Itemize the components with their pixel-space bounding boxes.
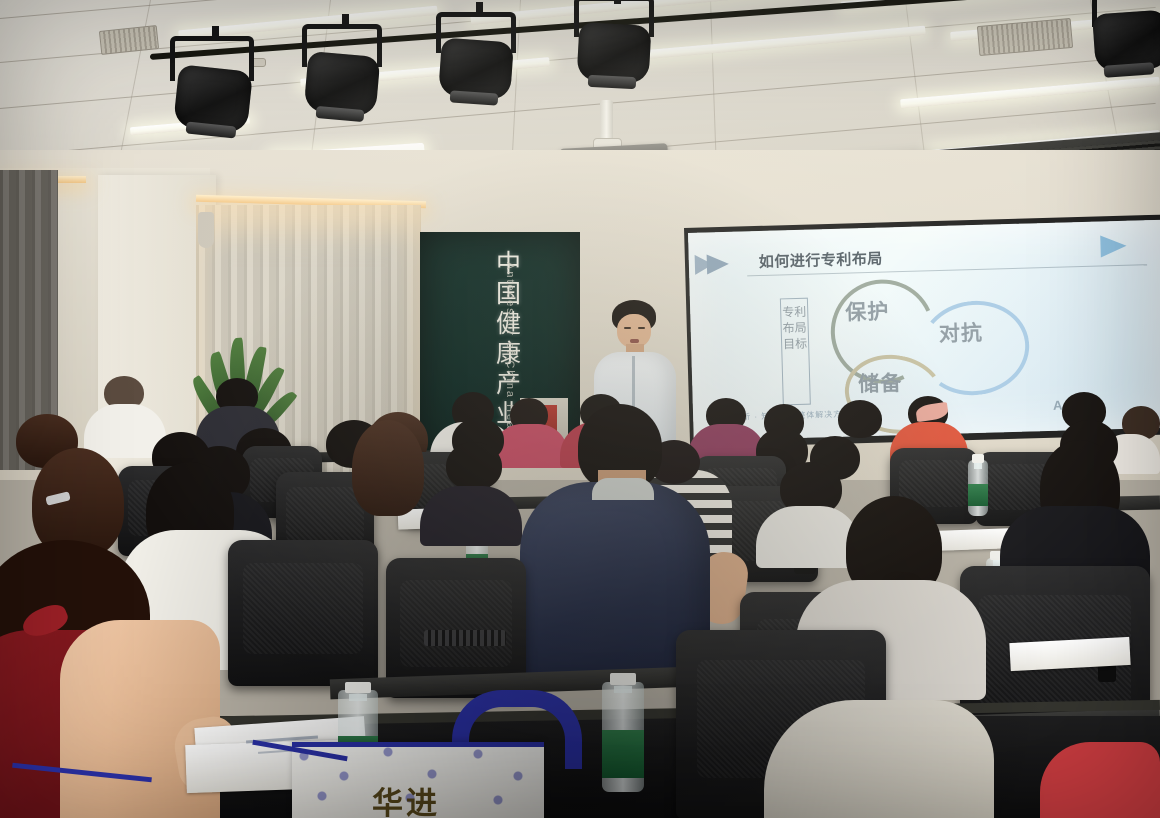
diagram-label-protect: 保护	[845, 295, 890, 326]
diagram-label-counter: 对抗	[938, 317, 983, 348]
diagram-label-reserve: 储备	[858, 367, 903, 398]
chevron-right-icon	[1100, 235, 1127, 258]
shirt-collar	[592, 478, 654, 500]
slide-title: 如何进行专利布局	[759, 248, 884, 272]
audience-head	[352, 420, 424, 516]
tote-bag-logo: 华进	[372, 778, 440, 818]
slide-goal-box: 专利布局目标	[780, 298, 811, 406]
audience-torso	[420, 486, 522, 546]
seminar-room-photo: 中国健康产业 Antecessor of China Health 如何进行专利…	[0, 0, 1160, 818]
fluorescent-light	[900, 77, 1160, 109]
chair-lumbar-mesh	[424, 630, 506, 646]
chair	[228, 540, 378, 686]
water-bottle	[602, 682, 644, 792]
front-person-right-arm	[1040, 742, 1160, 818]
audience-head	[446, 442, 502, 490]
audience-torso	[756, 506, 860, 568]
air-vent	[99, 25, 159, 55]
front-person-right	[764, 700, 994, 818]
audience-head	[838, 400, 882, 438]
chevron-accent-icon	[707, 254, 730, 275]
water-bottle	[968, 460, 988, 516]
air-vent	[977, 18, 1073, 56]
wall-speaker	[198, 212, 214, 248]
tote-bag-trim	[292, 742, 544, 747]
